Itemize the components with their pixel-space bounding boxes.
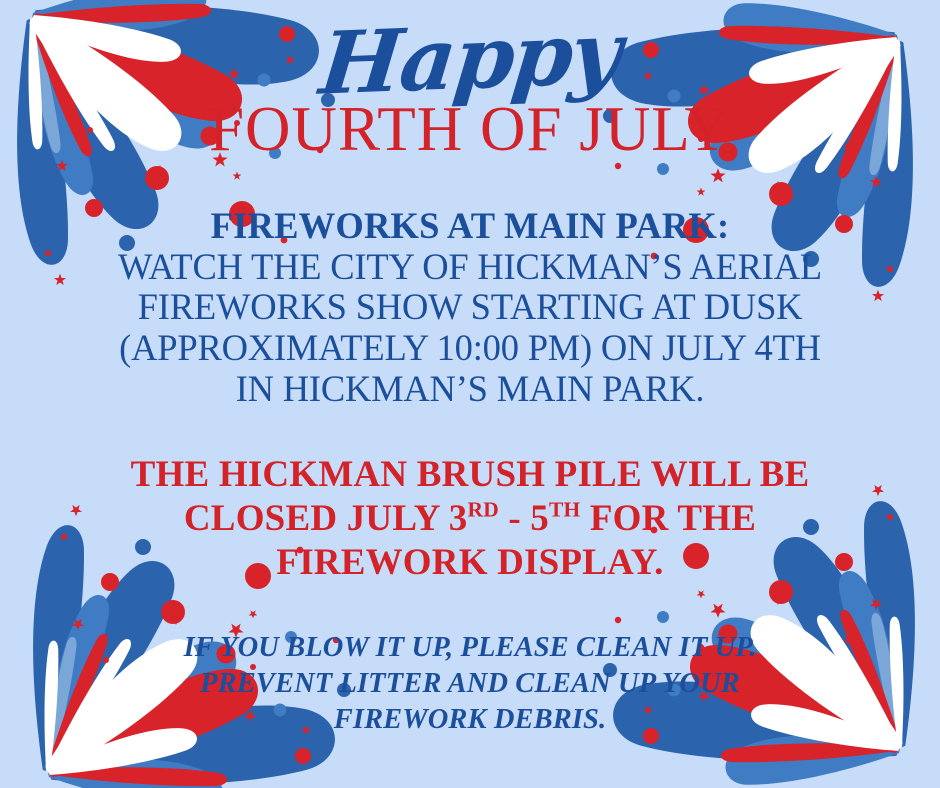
fireworks-notice-line-4: (APPROXIMATELY 10:00 PM) ON JULY 4TH (35, 328, 905, 369)
brush-pile-date-mid: - 5 (499, 498, 549, 539)
cleanup-note: IF YOU BLOW IT UP, PLEASE CLEAN IT UP. P… (35, 630, 905, 737)
brush-pile-date-prefix: CLOSED JULY 3 (184, 498, 468, 539)
fourth-of-july-poster: Happy FOURTH OF JULY FIREWORKS AT MAIN P… (0, 0, 940, 788)
brush-pile-notice-line-2: CLOSED JULY 3RD - 5TH FOR THE (35, 497, 905, 541)
brush-pile-notice-line-3: FIREWORK DISPLAY. (35, 541, 905, 585)
poster-title-block: Happy FOURTH OF JULY (0, 0, 940, 172)
cleanup-note-line-2: PREVENT LITTER AND CLEAN UP YOUR (35, 666, 905, 702)
fireworks-notice-line-5: IN HICKMAN’S MAIN PARK. (35, 369, 905, 410)
fireworks-notice: FIREWORKS AT MAIN PARK: WATCH THE CITY O… (35, 206, 905, 409)
brush-pile-notice-line-1: THE HICKMAN BRUSH PILE WILL BE (35, 453, 905, 497)
fireworks-notice-line-1: FIREWORKS AT MAIN PARK: (35, 206, 905, 247)
fireworks-notice-line-3: FIREWORKS SHOW STARTING AT DUSK (35, 287, 905, 328)
brush-pile-ordinal-th: TH (549, 498, 580, 522)
cleanup-note-line-1: IF YOU BLOW IT UP, PLEASE CLEAN IT UP. (35, 630, 905, 666)
brush-pile-notice: THE HICKMAN BRUSH PILE WILL BE CLOSED JU… (35, 453, 905, 584)
fireworks-notice-line-2: WATCH THE CITY OF HICKMAN’S AERIAL (35, 247, 905, 288)
cleanup-note-line-3: FIREWORK DEBRIS. (35, 702, 905, 738)
brush-pile-date-suffix: FOR THE (580, 498, 756, 539)
poster-content: Happy FOURTH OF JULY FIREWORKS AT MAIN P… (0, 0, 940, 788)
brush-pile-ordinal-rd: RD (468, 498, 499, 522)
